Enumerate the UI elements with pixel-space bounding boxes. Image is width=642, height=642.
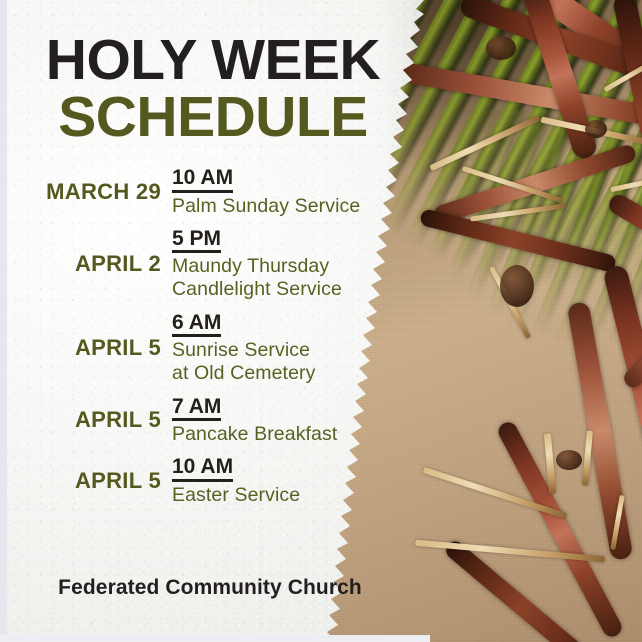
schedule-row-date: APRIL 5 — [0, 336, 172, 360]
schedule-row-description: Pancake Breakfast — [172, 423, 420, 446]
schedule-list: MARCH 29 10 AM Palm Sunday Service APRIL… — [0, 166, 420, 516]
schedule-row-detail: 10 AM Palm Sunday Service — [172, 166, 420, 218]
title-line-holy-week: HOLY WEEK — [0, 33, 420, 89]
schedule-row: APRIL 5 7 AM Pancake Breakfast — [0, 395, 420, 447]
title-line-schedule: SCHEDULE — [0, 89, 420, 146]
schedule-row-description: Palm Sunday Service — [172, 195, 420, 218]
branch-knot — [585, 120, 607, 138]
schedule-row-description: Easter Service — [172, 484, 420, 507]
schedule-row: APRIL 5 6 AM Sunrise Serviceat Old Cemet… — [0, 311, 420, 386]
poster-content: HOLY WEEK SCHEDULE MARCH 29 10 AM Palm S… — [0, 0, 430, 642]
page-title: HOLY WEEK SCHEDULE — [0, 33, 420, 146]
schedule-row: MARCH 29 10 AM Palm Sunday Service — [0, 166, 420, 218]
schedule-row: APRIL 2 5 PM Maundy ThursdayCandlelight … — [0, 227, 420, 302]
schedule-row-time: 6 AM — [172, 311, 221, 338]
schedule-row-detail: 10 AM Easter Service — [172, 455, 420, 507]
schedule-row-date: MARCH 29 — [0, 180, 172, 204]
schedule-row-time: 10 AM — [172, 166, 233, 193]
branch-knot — [500, 265, 534, 307]
schedule-row-date: APRIL 2 — [0, 252, 172, 276]
schedule-row-time: 5 PM — [172, 227, 221, 254]
schedule-row-time: 10 AM — [172, 455, 233, 482]
holy-week-schedule-poster: HOLY WEEK SCHEDULE MARCH 29 10 AM Palm S… — [0, 0, 642, 642]
church-name-footer: Federated Community Church — [0, 576, 420, 600]
branch-knot — [486, 36, 516, 60]
branch-knot — [556, 450, 582, 470]
schedule-row-description: Sunrise Serviceat Old Cemetery — [172, 339, 420, 385]
schedule-row-detail: 5 PM Maundy ThursdayCandlelight Service — [172, 227, 420, 302]
schedule-row-detail: 7 AM Pancake Breakfast — [172, 395, 420, 447]
schedule-row-detail: 6 AM Sunrise Serviceat Old Cemetery — [172, 311, 420, 386]
schedule-row: APRIL 5 10 AM Easter Service — [0, 455, 420, 507]
schedule-row-description: Maundy ThursdayCandlelight Service — [172, 255, 420, 301]
schedule-row-date: APRIL 5 — [0, 469, 172, 493]
schedule-row-time: 7 AM — [172, 395, 221, 422]
schedule-row-date: APRIL 5 — [0, 408, 172, 432]
